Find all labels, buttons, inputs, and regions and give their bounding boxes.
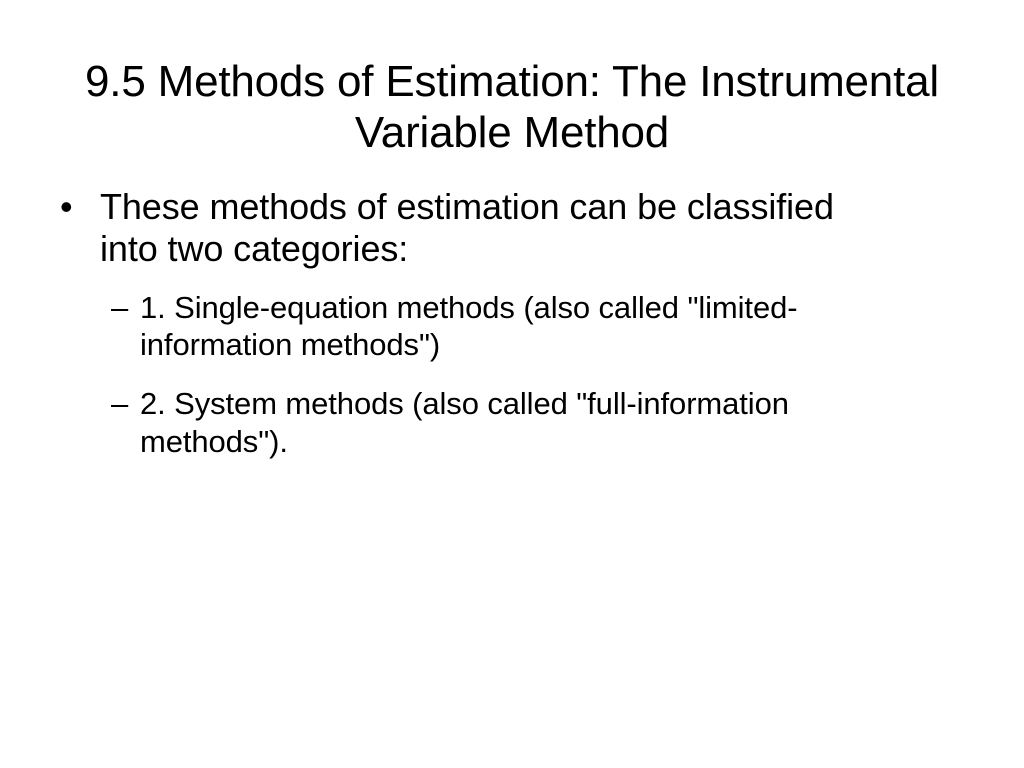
bullet-dash-icon: – xyxy=(111,385,128,422)
bullet-dot-icon: • xyxy=(60,186,73,228)
page-title: 9.5 Methods of Estimation: The Instrumen… xyxy=(62,57,962,157)
bullet-item-level2: – 2. System methods (also called "full-i… xyxy=(0,385,1024,459)
bullet-item-level1-label: These methods of estimation can be class… xyxy=(100,186,860,271)
sub-bullet-list: – 1. Single-equation methods (also calle… xyxy=(0,289,1024,460)
bullet-item-level2-label: 2. System methods (also called "full-inf… xyxy=(140,385,860,459)
bullet-dash-icon: – xyxy=(111,289,128,326)
bullet-item-level1: • These methods of estimation can be cla… xyxy=(0,186,960,271)
presentation-slide: 9.5 Methods of Estimation: The Instrumen… xyxy=(0,0,1024,768)
bullet-item-level2: – 1. Single-equation methods (also calle… xyxy=(0,289,1024,363)
bullet-item-level2-label: 1. Single-equation methods (also called … xyxy=(140,289,860,363)
slide-body: • These methods of estimation can be cla… xyxy=(0,186,1024,460)
